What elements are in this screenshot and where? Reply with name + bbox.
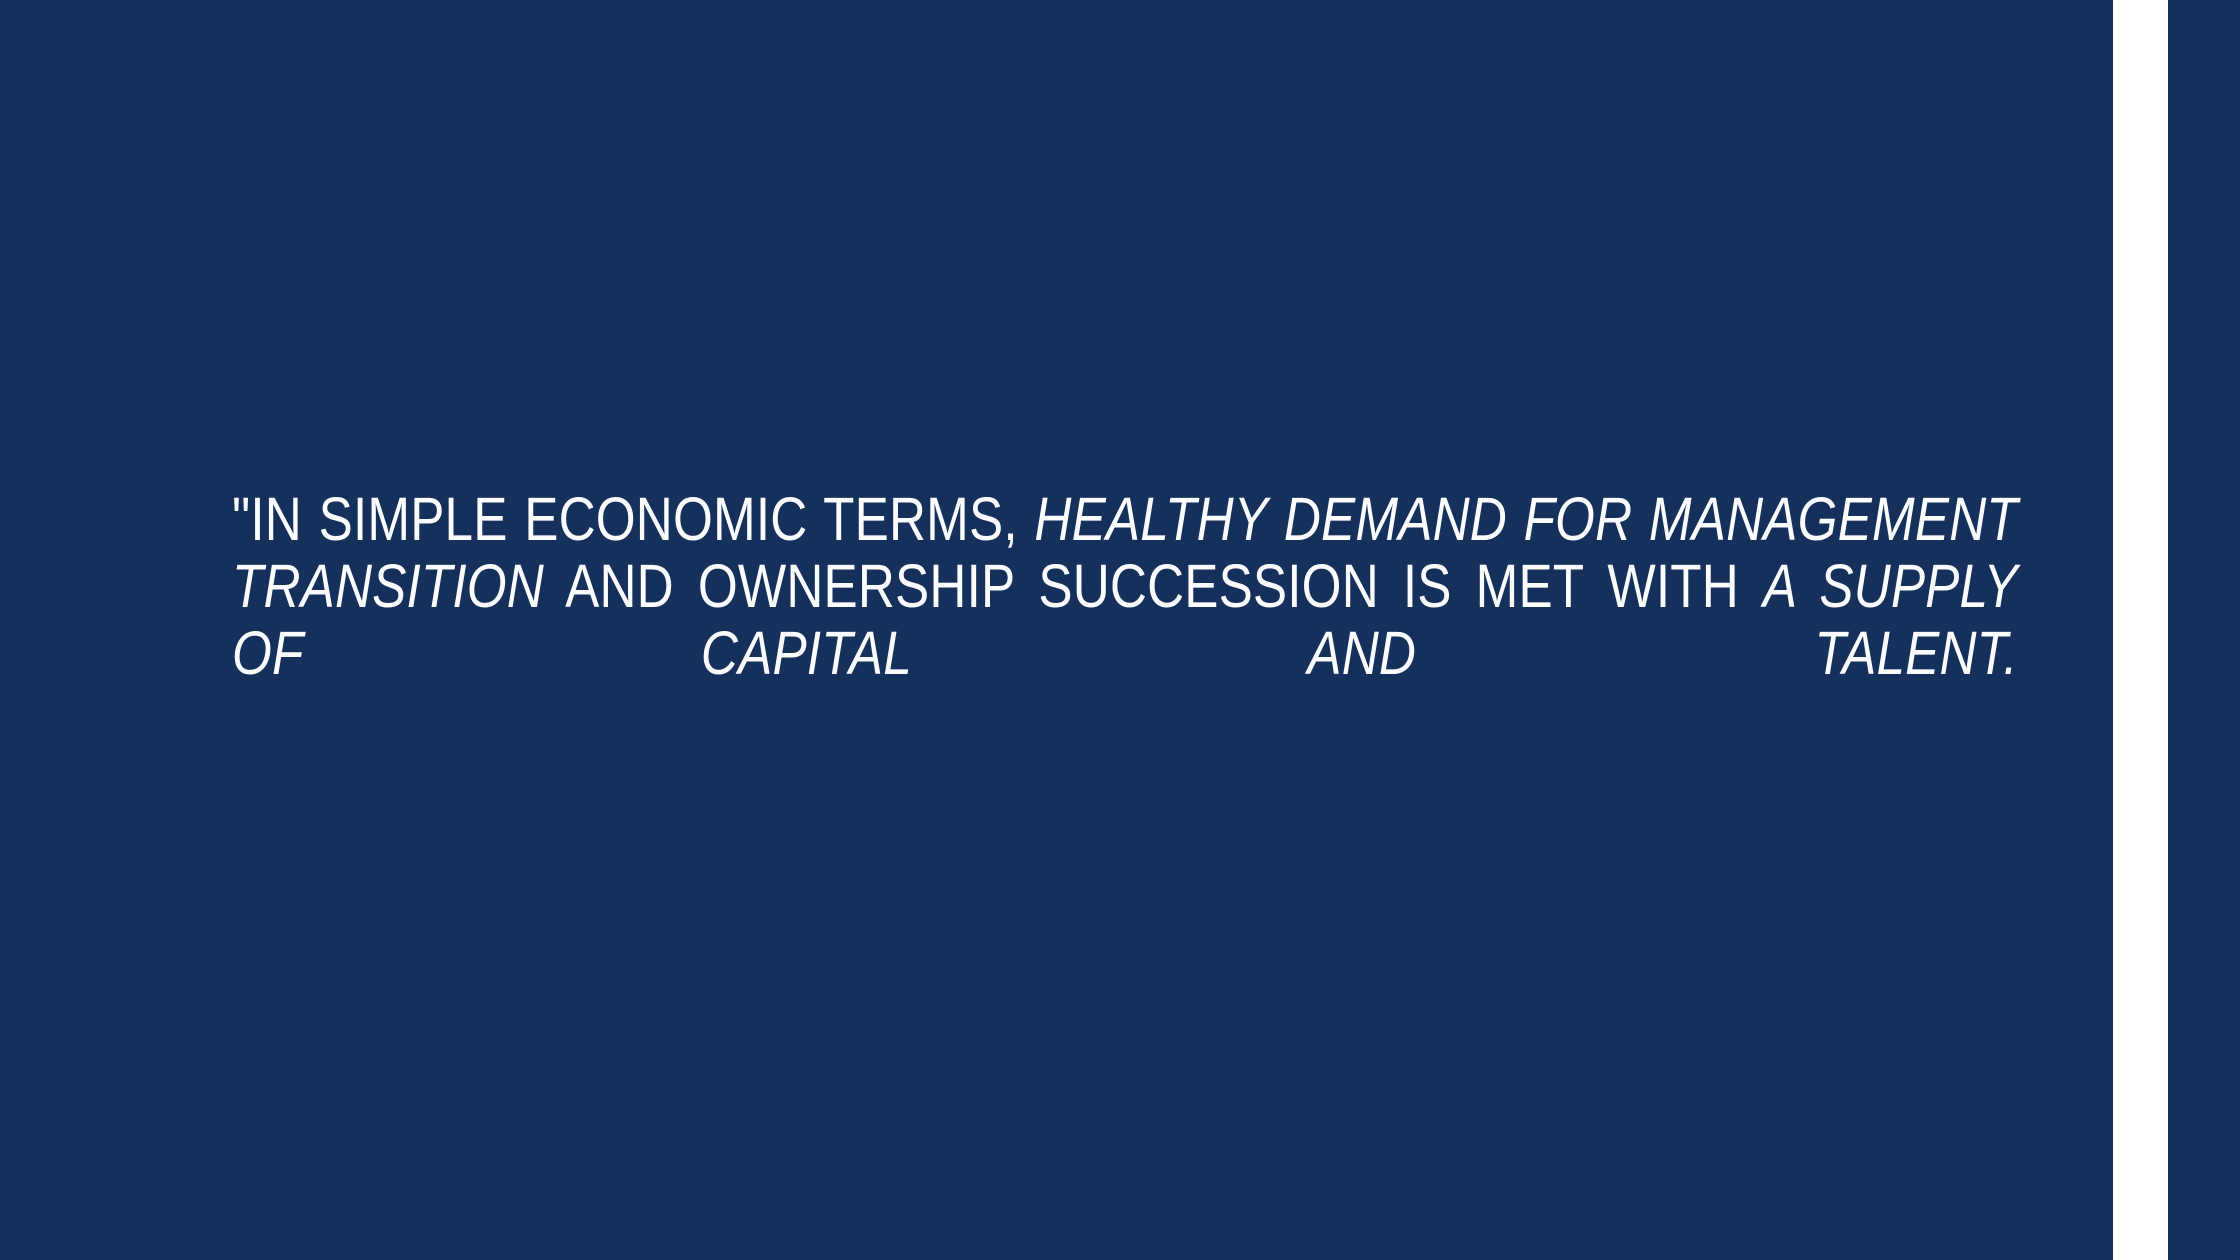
quote-block: "IN SIMPLE ECONOMIC TERMS, HEALTHY DEMAN… [232,486,2018,754]
quote-segment-upright-1: "IN SIMPLE ECONOMIC TERMS, [232,485,1034,553]
slide-canvas: "IN SIMPLE ECONOMIC TERMS, HEALTHY DEMAN… [0,0,2240,1260]
quote-text: "IN SIMPLE ECONOMIC TERMS, HEALTHY DEMAN… [232,486,2018,754]
accent-stripe-white [2113,0,2168,1260]
background-panel-navy-right [2168,0,2240,1260]
quote-segment-upright-2: AND OWNERSHIP SUCCESSION IS MET WITH [544,552,1763,620]
